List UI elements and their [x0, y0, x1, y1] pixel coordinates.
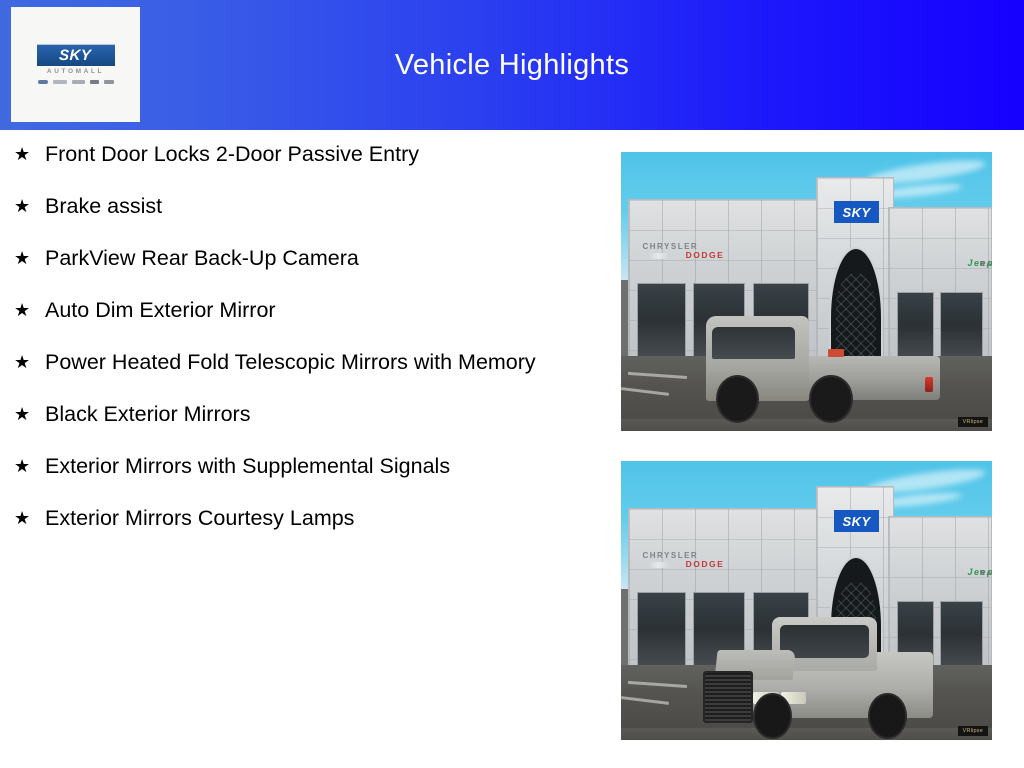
- storefront-window: [940, 601, 983, 668]
- chrysler-brand-icon: [38, 80, 48, 84]
- sign-ram: RAM: [980, 261, 992, 268]
- sky-logo-text: SKY: [59, 48, 92, 63]
- storefront-window: [940, 292, 983, 359]
- asphalt-foreground: [621, 419, 992, 431]
- feature-label: Black Exterior Mirrors: [45, 400, 250, 429]
- photo-watermark: VRlipse: [958, 726, 988, 736]
- sign-sky: SKY: [834, 510, 879, 532]
- page-header: SKY AUTOMALL Vehicle Highlights: [0, 0, 1024, 130]
- jeep-brand-icon: [90, 80, 99, 84]
- storefront-window: [637, 283, 686, 357]
- vehicle-photo-rear[interactable]: CHRYSLER DODGE Jeep RAM SKY: [621, 152, 992, 431]
- truck-wheel: [716, 375, 760, 424]
- page-title: Vehicle Highlights: [0, 0, 1024, 130]
- cab-roof-lamp: [828, 349, 844, 356]
- vehicle-photo-front[interactable]: CHRYSLER DODGE Jeep RAM SKY: [621, 461, 992, 740]
- sign-dodge: DODGE: [686, 250, 725, 260]
- star-icon: ★: [14, 140, 45, 168]
- dodge-brand-icon: [53, 80, 67, 84]
- feature-label: Front Door Locks 2-Door Passive Entry: [45, 140, 419, 169]
- lot-stripe: [621, 387, 669, 396]
- ram-truck-front-view: [703, 617, 933, 734]
- ram-brand-icon: [72, 80, 85, 84]
- star-icon: ★: [14, 296, 45, 324]
- list-item: ★ Brake assist: [0, 192, 600, 221]
- truck-wheel: [868, 693, 907, 739]
- feature-label: Auto Dim Exterior Mirror: [45, 296, 276, 325]
- list-item: ★ Auto Dim Exterior Mirror: [0, 296, 600, 325]
- feature-label: ParkView Rear Back-Up Camera: [45, 244, 359, 273]
- vehicle-highlights-list: ★ Front Door Locks 2-Door Passive Entry …: [0, 140, 600, 556]
- truck-wheel: [753, 693, 792, 739]
- ram-truck-rear-view: [706, 311, 940, 417]
- feature-label: Exterior Mirrors Courtesy Lamps: [45, 504, 354, 533]
- feature-label: Exterior Mirrors with Supplemental Signa…: [45, 452, 450, 481]
- list-item: ★ Exterior Mirrors with Supplemental Sig…: [0, 452, 600, 481]
- feature-label: Brake assist: [45, 192, 162, 221]
- dealer-logo[interactable]: SKY AUTOMALL: [11, 7, 140, 122]
- photo-watermark: VRlipse: [958, 417, 988, 427]
- logo-inner: SKY AUTOMALL: [37, 44, 115, 85]
- list-item: ★ ParkView Rear Back-Up Camera: [0, 244, 600, 273]
- taillight: [925, 377, 933, 392]
- lot-stripe: [628, 372, 687, 379]
- list-item: ★ Front Door Locks 2-Door Passive Entry: [0, 140, 600, 169]
- star-icon: ★: [14, 452, 45, 480]
- wagoneer-brand-icon: [104, 80, 114, 84]
- truck-window: [712, 327, 794, 359]
- list-item: ★ Power Heated Fold Telescopic Mirrors w…: [0, 348, 600, 377]
- dealer-brand-logos: [38, 79, 114, 85]
- star-icon: ★: [14, 400, 45, 428]
- list-item: ★ Exterior Mirrors Courtesy Lamps: [0, 504, 600, 533]
- storefront-window: [637, 592, 686, 666]
- truck-wheel: [809, 375, 853, 424]
- sign-sky: SKY: [834, 201, 879, 223]
- star-icon: ★: [14, 504, 45, 532]
- star-icon: ★: [14, 244, 45, 272]
- truck-grille: [703, 671, 754, 723]
- list-item: ★ Black Exterior Mirrors: [0, 400, 600, 429]
- feature-label: Power Heated Fold Telescopic Mirrors wit…: [45, 348, 536, 377]
- automall-tagline: AUTOMALL: [47, 69, 104, 76]
- sign-ram: RAM: [980, 570, 992, 577]
- star-icon: ★: [14, 348, 45, 376]
- sky-logo-plate: SKY: [37, 44, 115, 66]
- lot-stripe: [628, 681, 687, 688]
- sign-dodge: DODGE: [686, 559, 725, 569]
- star-icon: ★: [14, 192, 45, 220]
- lot-stripe: [621, 696, 669, 705]
